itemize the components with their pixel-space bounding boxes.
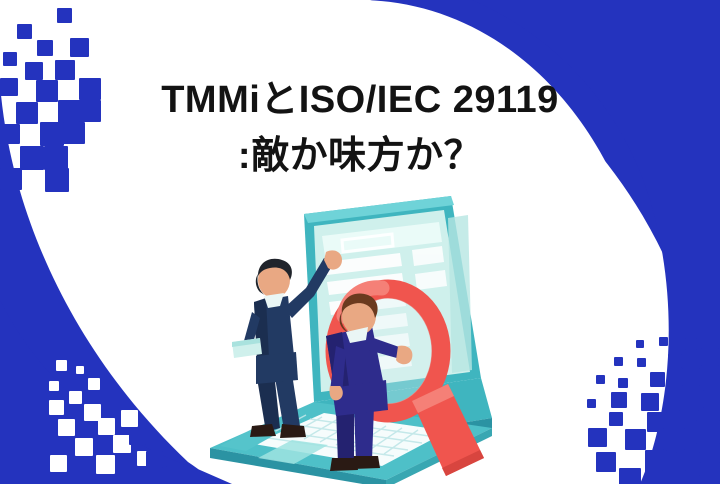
illustration-laptop-inspection	[196, 196, 496, 484]
banner: TMMiとISO/IEC 29119 :敵か味方か？	[0, 0, 720, 484]
pixel-cluster-top-left	[0, 8, 101, 192]
